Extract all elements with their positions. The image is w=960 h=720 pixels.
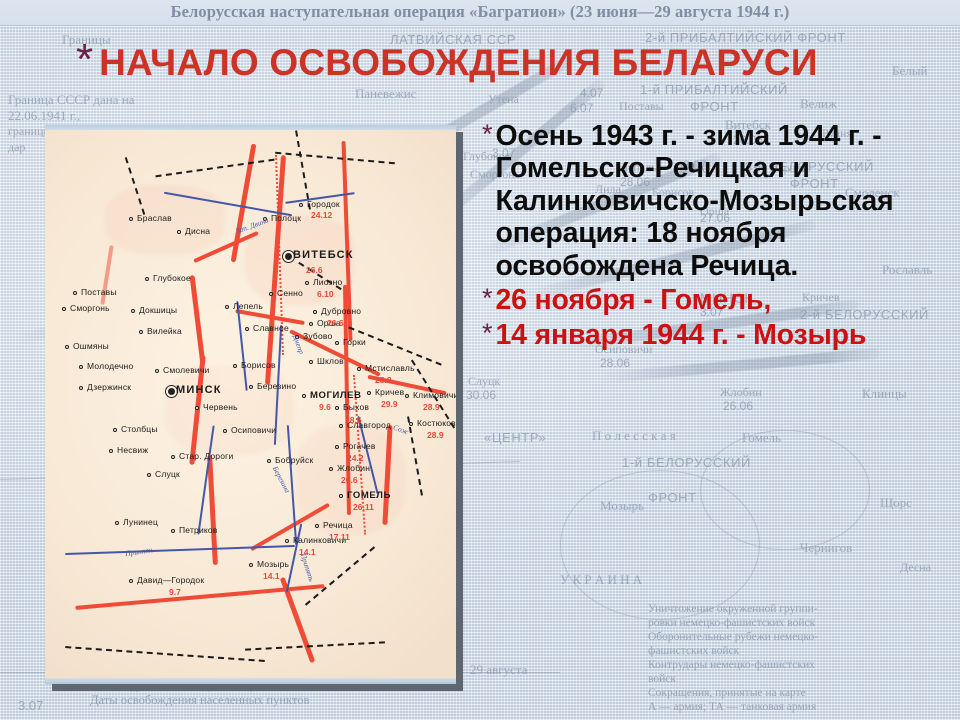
map-city-dot (313, 310, 317, 314)
background-map-label: 1-й БЕЛОРУССКИЙ (622, 455, 751, 470)
map-city-dot (139, 330, 143, 334)
map-city-label: Речица (323, 520, 353, 530)
map-city-dot (305, 281, 309, 285)
map-city-dot (109, 449, 113, 453)
map-city-label: Смолевичи (163, 365, 209, 375)
map-city-label: Бобруйск (275, 455, 313, 465)
map-city-dot (177, 230, 181, 234)
map-city-dot (249, 385, 253, 389)
map-city-label: Рогачев (343, 441, 376, 451)
map-city-label: Зубово (303, 331, 332, 341)
map-city-dot (65, 345, 69, 349)
map-city-label: Несвиж (117, 445, 148, 455)
map-city-dot (73, 291, 77, 295)
map-city-dot (285, 253, 292, 260)
map-city-label: Березино (257, 381, 296, 391)
map-city-label: Докшицы (139, 305, 177, 315)
background-map-label: 26.06 (723, 399, 753, 413)
map-city-label: Браслав (137, 213, 172, 223)
background-map-label: Чернигов (800, 540, 852, 556)
map-city-label: Славное (253, 323, 289, 333)
map-city-label: Борисов (241, 360, 276, 370)
map-city-dot (329, 467, 333, 471)
background-map-label: 29 августа (470, 662, 527, 678)
map-city-dot (62, 307, 66, 311)
map-city-dot (339, 424, 343, 428)
background-map-label: Мозырь (600, 498, 644, 514)
map-city-dot (129, 217, 133, 221)
background-map-label: У К Р А И Н А (560, 572, 642, 588)
background-map-label: Щорс (880, 495, 912, 511)
map-liberation-date: 26.11 (353, 502, 374, 512)
map-city-label: Глубокое (153, 273, 191, 283)
background-legend-right: Уничтожение окруженной группи- ровки нем… (648, 602, 958, 714)
map-liberation-date: 26.6 (341, 475, 358, 485)
bullet-text: 14 января 1944 г. - Мозырь (496, 319, 867, 351)
background-map-label: Утена (488, 92, 519, 107)
body-bullet-item[interactable]: *14 января 1944 г. - Мозырь (482, 319, 952, 351)
map-city-label: Молодечно (87, 361, 133, 371)
map-city-label: Петриков (179, 525, 218, 535)
map-city-label: ВИТЕБСК (293, 249, 354, 261)
background-map-label: П о л е с с к а я (592, 428, 676, 444)
map-liberation-date: 9.7 (169, 587, 181, 597)
map-city-label: Горки (343, 337, 366, 347)
map-liberation-date: 28.9 (427, 430, 444, 440)
map-city-dot (131, 309, 135, 313)
map-city-dot (339, 494, 343, 498)
map-city-dot (115, 521, 119, 525)
background-map-label: Слуцк (468, 374, 500, 389)
map-city-label: Столбцы (121, 424, 158, 434)
map-city-label: Слуцк (155, 469, 180, 479)
map-city-dot (357, 367, 361, 371)
body-bullet-item[interactable]: *26 ноября - Гомель, (482, 284, 952, 316)
map-city-dot (225, 305, 229, 309)
map-city-dot (285, 539, 289, 543)
background-map-label: Гомель (742, 430, 781, 446)
body-bullet-list[interactable]: *Осень 1943 г. - зима 1944 г. - Гомельск… (482, 120, 952, 353)
map-city-dot (302, 394, 306, 398)
map-liberation-date: 28.9 (375, 375, 392, 385)
background-map-label: Жлобин (720, 385, 762, 400)
bullet-text: 26 ноября - Гомель, (496, 284, 772, 316)
bullet-asterisk-icon: * (482, 285, 493, 312)
map-city-label: Лепель (233, 301, 263, 311)
map-liberation-date: 24.12 (311, 210, 332, 220)
map-city-dot (267, 459, 271, 463)
map-liberation-date: 28.9 (423, 402, 440, 412)
map-city-label: Вилейка (147, 326, 182, 336)
map-city-label: Полоцк (271, 213, 301, 223)
map-city-label: Дзержинск (87, 382, 131, 392)
background-map-label: 28.06 (600, 356, 630, 370)
bullet-text: Осень 1943 г. - зима 1944 г. - Гомельско… (496, 120, 952, 282)
background-map-label: «ЦЕНТР» (484, 430, 546, 445)
background-map-label: 6.07 (570, 101, 593, 115)
map-city-label: Давид—Городок (137, 575, 204, 585)
title-bullet-asterisk-icon: * (76, 42, 93, 77)
map-city-label: Дисна (185, 226, 210, 236)
map-city-label: МИНСК (176, 384, 222, 396)
map-city-dot (145, 277, 149, 281)
map-city-label: Климовичи (413, 390, 456, 400)
map-liberation-date: 6.10 (317, 289, 334, 299)
map-liberation-date: 26.6 (327, 318, 344, 328)
background-map-label: ФРОНТ (690, 99, 739, 114)
map-liberation-date: 17.11 (329, 532, 350, 542)
map-city-dot (309, 360, 313, 364)
map-city-dot (79, 386, 83, 390)
bullet-asterisk-icon: * (482, 320, 493, 347)
background-map-label: Поставы (619, 99, 664, 114)
map-city-dot (233, 364, 237, 368)
map-city-label: Мстиславль (365, 363, 415, 373)
map-city-dot (367, 391, 371, 395)
map-city-dot (269, 292, 273, 296)
map-scan-bottom-strip (45, 678, 456, 684)
inset-map-image[interactable]: БраславДиснаПолоцкГородокВИТЕБСКЛиозноДу… (45, 125, 456, 684)
background-map-label: Клинцы (862, 386, 907, 402)
bullet-asterisk-icon: * (482, 121, 493, 148)
map-city-label: Лиозно (313, 277, 342, 287)
map-city-dot (155, 369, 159, 373)
background-map-label: 30.06 (466, 388, 496, 402)
map-city-dot (335, 445, 339, 449)
map-city-label: Ошмяны (73, 341, 109, 351)
map-city-dot (335, 406, 339, 410)
map-city-dot (168, 388, 175, 395)
slide-title[interactable]: * НАЧАЛО ОСВОБОЖДЕНИЯ БЕЛАРУСИ (76, 36, 936, 90)
map-city-label: Городок (307, 199, 340, 209)
map-city-label: Кричев (375, 387, 404, 397)
map-city-dot (299, 203, 303, 207)
background-map-label: Граница СССР дана на (8, 92, 134, 108)
map-city-dot (315, 524, 319, 528)
map-city-label: Червень (203, 402, 238, 412)
map-liberation-date: 29.9 (381, 399, 398, 409)
map-city-label: Лунинец (123, 517, 158, 527)
map-liberation-date: 9.6 (319, 402, 331, 412)
map-city-label: Сморгонь (70, 303, 110, 313)
map-city-dot (147, 473, 151, 477)
map-city-dot (405, 394, 409, 398)
map-city-dot (113, 428, 117, 432)
map-city-dot (409, 422, 413, 426)
background-map-label: 22.06.1941 г., (8, 108, 80, 124)
map-liberation-date: 24.2 (347, 453, 364, 463)
background-map-label: 3.07 (18, 698, 43, 713)
map-city-label: Стар. Дороги (179, 451, 233, 461)
map-city-label: Сенно (277, 288, 303, 298)
map-city-label: МОГИЛЕВ (310, 390, 362, 401)
background-map-label: ФРОНТ (648, 490, 697, 505)
map-city-dot (249, 563, 253, 567)
map-city-label: Костюковичи (417, 418, 456, 428)
background-map-title: Белорусская наступательная операция «Баг… (0, 2, 960, 22)
body-bullet-item[interactable]: *Осень 1943 г. - зима 1944 г. - Гомельск… (482, 120, 952, 282)
map-city-dot (195, 406, 199, 410)
map-city-label: ГОМЕЛЬ (347, 490, 391, 501)
map-city-dot (335, 341, 339, 345)
map-liberation-date: 14.1 (263, 571, 280, 581)
map-city-dot (223, 429, 227, 433)
map-city-dot (171, 529, 175, 533)
map-city-label: Жлобин (337, 463, 370, 473)
map-city-dot (129, 579, 133, 583)
title-text: НАЧАЛО ОСВОБОЖДЕНИЯ БЕЛАРУСИ (99, 42, 818, 84)
map-city-dot (245, 327, 249, 331)
map-city-dot (309, 322, 313, 326)
map-city-dot (171, 455, 175, 459)
map-city-label: Дубровно (321, 306, 361, 316)
background-map-label: Велиж (800, 96, 837, 112)
map-city-label: Шклов (317, 356, 344, 366)
map-city-dot (79, 365, 83, 369)
map-city-label: Поставы (81, 287, 117, 297)
map-city-label: Мозырь (257, 559, 289, 569)
presentation-slide: Белорусская наступательная операция «Баг… (0, 0, 960, 720)
map-liberation-date: 26.6 (306, 265, 323, 275)
map-scan-top-strip (45, 125, 456, 130)
background-map-label: дар (8, 140, 25, 155)
background-map-label: Десна (900, 560, 931, 575)
map-city-label: Быхов (343, 402, 369, 412)
map-liberation-date: 28.6 (345, 415, 362, 425)
map-city-label: Осиповичи (231, 425, 276, 435)
